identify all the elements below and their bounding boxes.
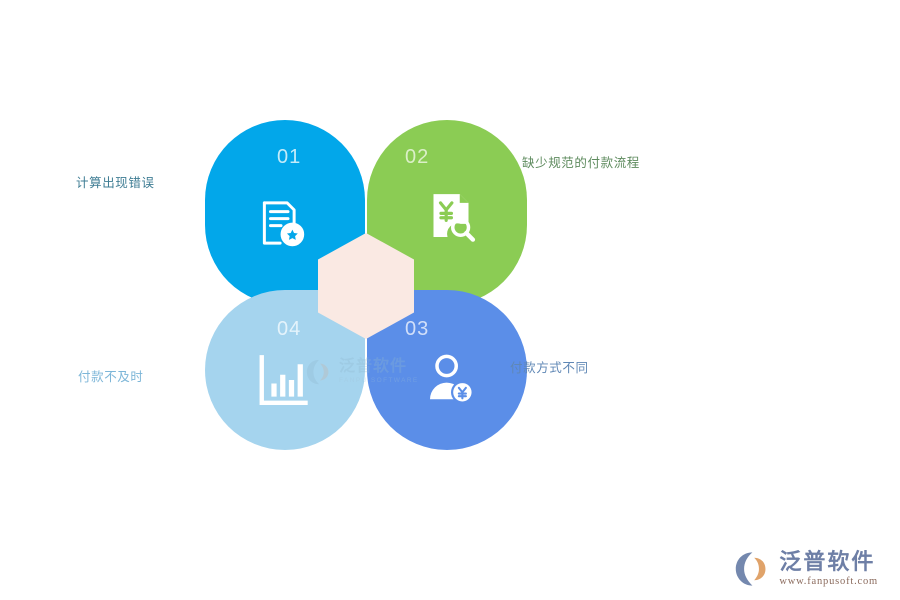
fanpu-mark-watermark-icon: [305, 357, 335, 387]
petal-02-number: 02: [405, 146, 429, 169]
watermark-cn-text: 泛普软件: [339, 359, 419, 375]
petal-01-number: 01: [277, 146, 301, 169]
diagram-canvas: 01 02: [0, 0, 900, 600]
petal-04-label: 付款不及时: [78, 366, 144, 385]
petal-02-label: 缺少规范的付款流程: [522, 152, 640, 171]
petal-04-number: 04: [277, 318, 301, 341]
petal-01-label: 计算出现错误: [76, 172, 155, 191]
petal-03-label: 付款方式不同: [510, 357, 589, 376]
logo-cn-text: 泛普软件: [779, 551, 878, 573]
logo-url-text: www.fanpusoft.com: [779, 577, 878, 588]
bar-chart-icon: [253, 352, 309, 408]
center-watermark: 泛普软件 FANPU SOFTWARE: [305, 348, 455, 396]
petal-03-number: 03: [405, 318, 429, 341]
invoice-yuan-search-icon: [423, 188, 479, 244]
document-star-icon: [253, 195, 309, 251]
brand-logo: 泛普软件 www.fanpusoft.com: [734, 550, 878, 588]
watermark-en-text: FANPU SOFTWARE: [339, 378, 419, 385]
fanpu-logo-icon: [734, 550, 772, 588]
